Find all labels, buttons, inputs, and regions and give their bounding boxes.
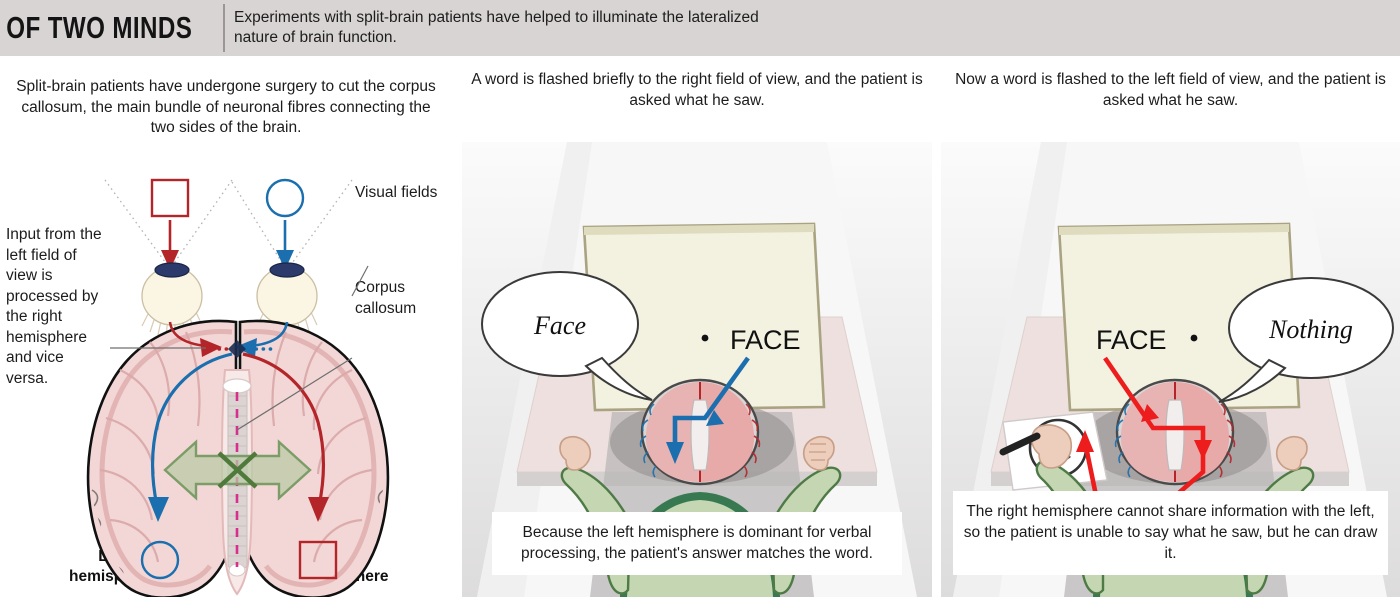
right-caption-top: Now a word is flashed to the left field … [941, 70, 1400, 111]
corpus-callosum-top-view [1166, 400, 1184, 470]
corpus-callosum-top-view [691, 400, 709, 470]
fixation-dot [702, 335, 709, 342]
panel-right-experiment: Now a word is flashed to the left field … [941, 70, 1400, 597]
leader-visual-fields [352, 266, 368, 296]
right-caption-bottom: The right hemisphere cannot share inform… [953, 491, 1388, 575]
stimulus-to-eye-arrows [170, 220, 285, 256]
blue-circle-stimulus-top [267, 180, 303, 216]
speech-bubble-text: Nothing [1268, 315, 1353, 344]
panel-middle-experiment: A word is flashed briefly to the right f… [462, 70, 932, 597]
visual-field-cone-lines [105, 180, 352, 266]
head-with-brain-top-view [641, 380, 760, 484]
page-title: OF TWO MINDS [0, 10, 192, 46]
red-square-stimulus-top [152, 180, 188, 216]
brain-anatomy-diagram [0, 70, 450, 597]
header-divider [223, 4, 225, 52]
middle-caption-top: A word is flashed briefly to the right f… [462, 70, 932, 111]
speech-bubble-text: Face [533, 311, 586, 340]
header-subtitle: Experiments with split-brain patients ha… [234, 8, 794, 48]
fixation-dot [1191, 335, 1198, 342]
middle-caption-bottom: Because the left hemisphere is dominant … [492, 512, 902, 575]
screen-word: FACE [1096, 325, 1167, 355]
panel-left-diagram: Split-brain patients have undergone surg… [0, 70, 450, 597]
infographic-root: OF TWO MINDS Experiments with split-brai… [0, 0, 1400, 597]
screen-word: FACE [730, 325, 801, 355]
header-banner: OF TWO MINDS Experiments with split-brai… [0, 0, 1400, 56]
